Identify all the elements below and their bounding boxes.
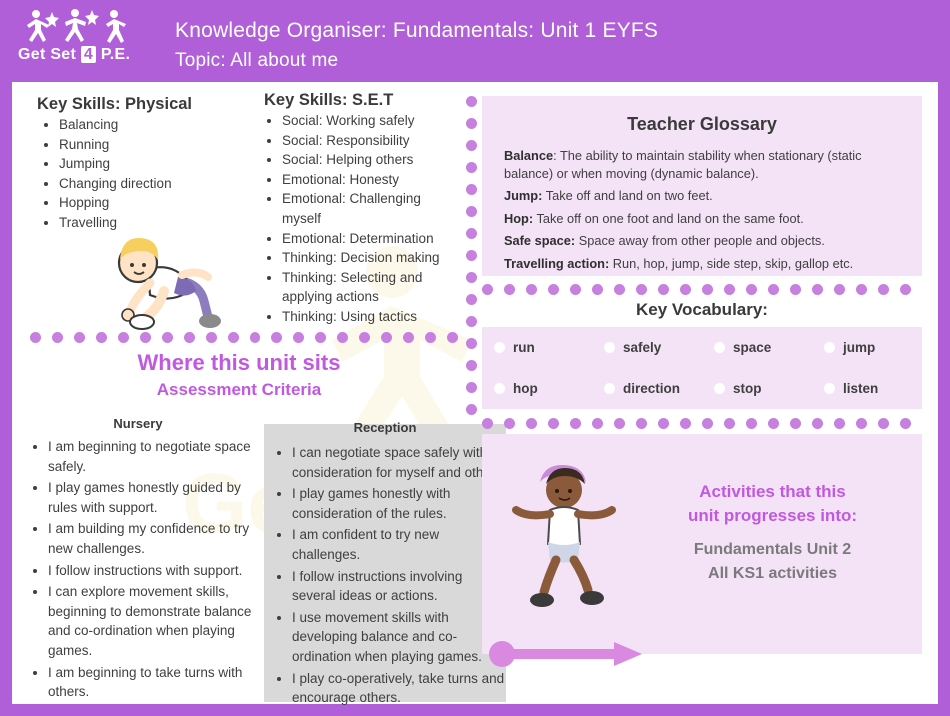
list-item: I follow instructions with support.	[48, 561, 262, 581]
activities-title: Activities that this unit progresses int…	[640, 480, 905, 528]
bullet-icon	[494, 383, 505, 394]
list-item: I can negotiate space safely with consid…	[292, 443, 506, 482]
glossary-term: Hop:	[504, 211, 533, 226]
list-item: I can explore movement skills, beginning…	[48, 582, 262, 660]
heading-assessment-criteria: Assessment Criteria	[24, 380, 454, 400]
heading-key-skills-physical: Key Skills: Physical	[37, 95, 192, 114]
vocab-item: stop	[702, 368, 812, 409]
list-item: I use movement skills with developing ba…	[292, 608, 506, 667]
activities-item-2: All KS1 activities	[708, 565, 837, 582]
glossary-term: Safe space:	[504, 233, 575, 248]
dotted-divider-horizontal-glossary	[482, 284, 922, 295]
logo: Get Set 4 P.E.	[14, 6, 144, 74]
list-item: I play games honestly with consideration…	[292, 484, 506, 523]
list-item: Changing direction	[59, 174, 227, 194]
list-item: I play co-operatively, take turns and en…	[292, 669, 506, 708]
vocab-word: jump	[843, 340, 875, 355]
glossary-entry: Hop: Take off on one foot and land on th…	[504, 210, 909, 228]
list-key-skills-physical: Balancing Running Jumping Changing direc…	[37, 115, 227, 233]
page-subtitle: Topic: All about me	[175, 50, 338, 72]
list-key-skills-set: Social: Working safely Social: Responsib…	[260, 111, 460, 327]
list-item: Social: Working safely	[282, 111, 460, 131]
child-running-illustration-icon	[502, 454, 632, 629]
logo-text-box: 4	[81, 46, 96, 63]
list-item: I am beginning to negotiate space safely…	[48, 437, 262, 476]
vocab-word: run	[513, 340, 535, 355]
heading-key-skills-set: Key Skills: S.E.T	[264, 91, 393, 110]
list-item: Thinking: Selecting and applying actions	[282, 268, 460, 307]
list-reception-criteria: I can negotiate space safely with consid…	[270, 443, 506, 710]
glossary-definition: The ability to maintain stability when s…	[504, 148, 862, 181]
vocab-word: space	[733, 340, 771, 355]
bullet-icon	[714, 383, 725, 394]
heading-where-this-unit-sits: Where this unit sits	[24, 350, 454, 376]
bullet-icon	[824, 342, 835, 353]
vocab-item: run	[482, 327, 592, 368]
list-item: Social: Helping others	[282, 150, 460, 170]
list-nursery-criteria: I am beginning to negotiate space safely…	[26, 437, 262, 704]
logo-text-pre: Get Set	[18, 46, 76, 63]
glossary-definition: Run, hop, jump, side step, skip, gallop …	[609, 256, 853, 271]
key-vocabulary-grid: run safely space jump hop direction stop…	[482, 327, 922, 409]
vocab-word: hop	[513, 381, 538, 396]
list-item: I am beginning to take turns with others…	[48, 663, 262, 702]
list-item: I am confident to try new challenges.	[292, 525, 506, 564]
list-item: Emotional: Determination	[282, 229, 460, 249]
vocab-word: safely	[623, 340, 661, 355]
list-item: I play games honestly guided by rules wi…	[48, 478, 262, 517]
content-card: Get Set Key Skills: Physical Balancing R…	[12, 82, 938, 704]
vocab-item: space	[702, 327, 812, 368]
dotted-divider-horizontal-vocab	[482, 418, 922, 429]
list-item: Jumping	[59, 154, 227, 174]
page-title: Knowledge Organiser: Fundamentals: Unit …	[175, 19, 658, 43]
activities-title-line1: Activities that this	[699, 482, 845, 501]
list-item: I am building my confidence to try new c…	[48, 519, 262, 558]
list-item: Thinking: Using tactics	[282, 307, 460, 327]
list-item: Social: Responsibility	[282, 131, 460, 151]
activities-title-line2: unit progresses into:	[688, 506, 857, 525]
glossary-definition: Space away from other people and objects…	[575, 233, 825, 248]
list-item: Running	[59, 135, 227, 155]
bullet-icon	[824, 383, 835, 394]
vocab-item: hop	[482, 368, 592, 409]
child-balancing-illustration-icon	[90, 225, 240, 345]
logo-text: Get Set 4 P.E.	[18, 46, 130, 64]
heading-teacher-glossary: Teacher Glossary	[482, 114, 922, 135]
dotted-divider-horizontal-left	[30, 332, 458, 343]
logo-figures-icon	[22, 8, 134, 48]
list-item: I follow instructions involving several …	[292, 567, 506, 606]
glossary-term: Balance	[504, 148, 553, 163]
list-item: Hopping	[59, 193, 227, 213]
vocab-word: stop	[733, 381, 762, 396]
vocab-item: safely	[592, 327, 702, 368]
list-item: Emotional: Honesty	[282, 170, 460, 190]
logo-text-post: P.E.	[101, 46, 130, 63]
vocab-word: listen	[843, 381, 878, 396]
bullet-icon	[604, 383, 615, 394]
glossary-definition: Take off on one foot and land on the sam…	[533, 211, 804, 226]
glossary-entry: Jump: Take off and land on two feet.	[504, 187, 909, 205]
glossary-entry: Travelling action: Run, hop, jump, side …	[504, 255, 909, 273]
bullet-icon	[494, 342, 505, 353]
glossary-term: Travelling action:	[504, 256, 609, 271]
page-header: Get Set 4 P.E. Knowledge Organiser: Fund…	[0, 0, 950, 82]
list-item: Thinking: Decision making	[282, 248, 460, 268]
glossary-entry: Balance: The ability to maintain stabili…	[504, 147, 909, 182]
vocab-word: direction	[623, 381, 680, 396]
vocab-item: jump	[812, 327, 922, 368]
vocab-item: listen	[812, 368, 922, 409]
activities-items: Fundamentals Unit 2 All KS1 activities	[640, 538, 905, 586]
heading-reception: Reception	[264, 420, 506, 435]
teacher-glossary-panel: Teacher Glossary Balance: The ability to…	[482, 96, 922, 276]
progression-arrow-icon	[482, 640, 652, 668]
glossary-entry: Safe space: Space away from other people…	[504, 232, 909, 250]
glossary-term: Jump:	[504, 188, 542, 203]
heading-key-vocabulary: Key Vocabulary:	[482, 300, 922, 320]
glossary-entries: Balance: The ability to maintain stabili…	[504, 147, 909, 277]
heading-nursery: Nursery	[24, 416, 252, 431]
bullet-icon	[714, 342, 725, 353]
bullet-icon	[604, 342, 615, 353]
list-item: Balancing	[59, 115, 227, 135]
list-item: Emotional: Challenging myself	[282, 189, 460, 228]
activities-item-1: Fundamentals Unit 2	[694, 541, 851, 558]
knowledge-organiser-page: Get Set 4 P.E. Knowledge Organiser: Fund…	[0, 0, 950, 716]
vocab-item: direction	[592, 368, 702, 409]
glossary-definition: Take off and land on two feet.	[542, 188, 712, 203]
